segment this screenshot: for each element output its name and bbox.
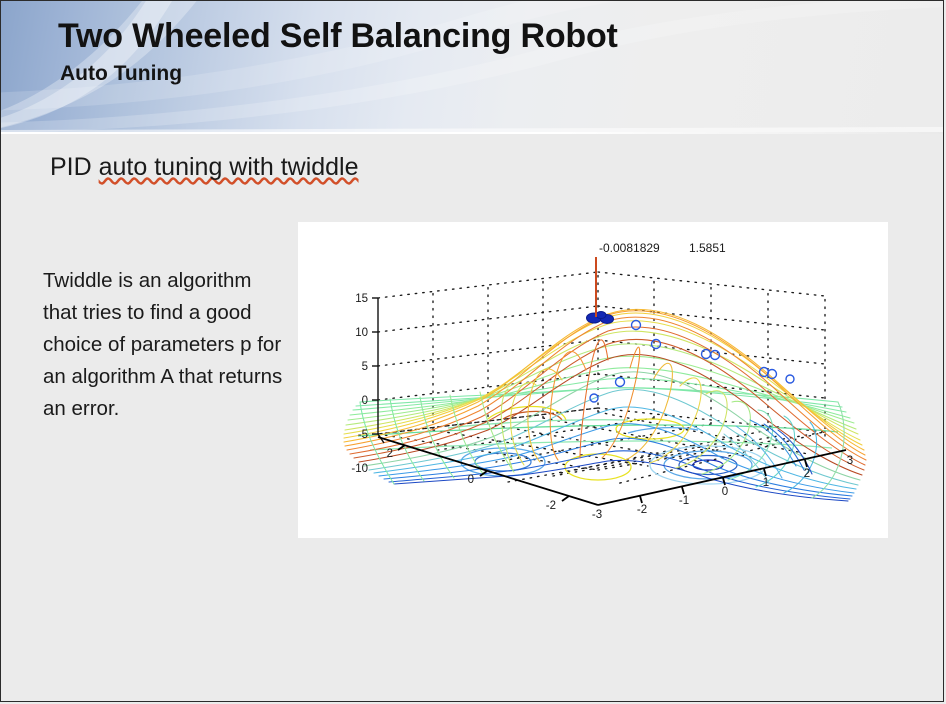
title-block: Two Wheeled Self Balancing Robot Auto Tu…: [58, 19, 618, 85]
x-tick-2: 2: [804, 468, 810, 480]
section-heading: PID auto tuning with twiddle: [50, 153, 359, 182]
x-tick-0: 0: [722, 486, 728, 498]
section-heading-spellcheck-text: auto tuning with twiddle: [99, 153, 359, 181]
figure-panel: -0.0081829 1.5851 15 10 5 0 -5 -10: [298, 222, 888, 538]
z-tick-neg10: -10: [351, 463, 368, 475]
x-tick-neg1: -1: [679, 495, 689, 507]
y-tick-neg2: -2: [546, 500, 556, 512]
page-subtitle: Auto Tuning: [60, 63, 618, 85]
y-tick-2: 2: [387, 448, 393, 460]
page-title: Two Wheeled Self Balancing Robot: [58, 19, 618, 54]
body-paragraph: Twiddle is an algorithm that tries to fi…: [43, 265, 283, 425]
section-heading-prefix: PID: [50, 153, 99, 181]
surface-mesh: [344, 309, 866, 501]
x-tick-1: 1: [763, 477, 769, 489]
presentation-slide: Two Wheeled Self Balancing Robot Auto Tu…: [0, 0, 944, 702]
z-tick-10: 10: [355, 327, 368, 339]
slide-header: Two Wheeled Self Balancing Robot Auto Tu…: [1, 1, 944, 132]
peaks-surface-plot: -0.0081829 1.5851 15 10 5 0 -5 -10: [298, 222, 888, 538]
annotation-peak-x: -0.0081829: [599, 241, 660, 255]
z-tick-0: 0: [362, 395, 368, 407]
y-tick-0: 0: [468, 474, 474, 486]
z-tick-neg5: -5: [358, 429, 368, 441]
z-tick-5: 5: [362, 361, 368, 373]
x-tick-neg2: -2: [637, 504, 647, 516]
annotation-peak-y: 1.5851: [689, 241, 726, 255]
x-tick-neg3: -3: [592, 509, 602, 521]
z-tick-15: 15: [355, 293, 368, 305]
x-tick-3: 3: [847, 455, 853, 467]
header-divider: [1, 132, 944, 134]
